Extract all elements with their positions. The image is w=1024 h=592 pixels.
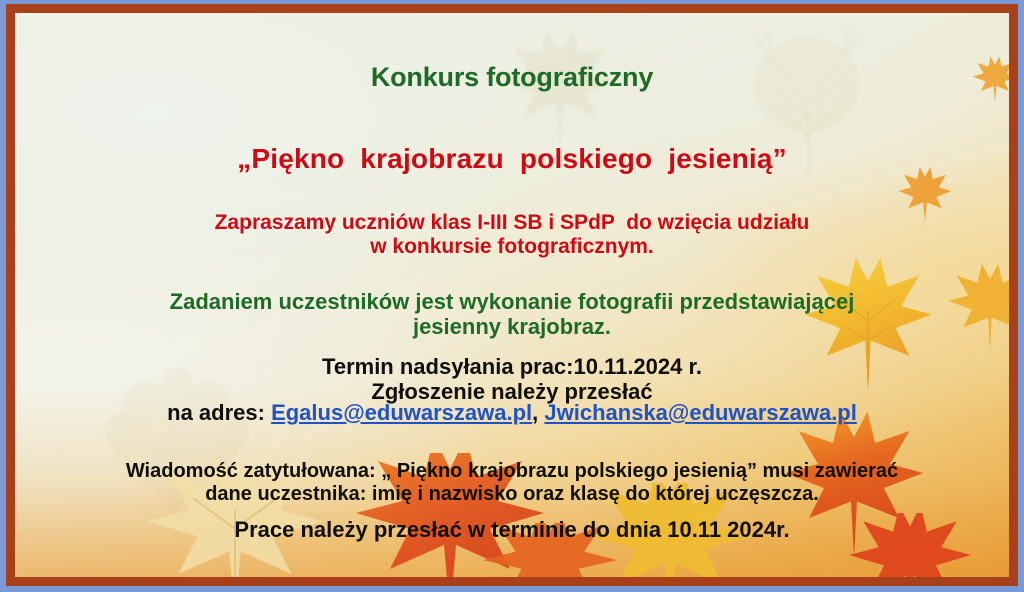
poster-content: Konkurs fotograficzny „Piękno krajobrazu…	[15, 13, 1009, 577]
final-note-text: Prace należy przesłać w terminie do dnia…	[15, 518, 1009, 543]
task-line-2: jesienny krajobraz.	[15, 315, 1009, 340]
email-link-2[interactable]: Jwichanska@eduwarszawa.pl	[544, 400, 856, 425]
theme-text: „Piękno krajobrazu polskiego jesienią”	[15, 143, 1009, 175]
final-note-block: Prace należy przesłać w terminie do dnia…	[15, 518, 1009, 543]
subject-info-block: Wiadomość zatytułowana: „ Piękno krajobr…	[15, 460, 1009, 505]
title-text: Konkurs fotograficzny	[15, 62, 1009, 93]
invitation-line-1: Zapraszamy uczniów klas I-III SB i SPdP …	[15, 211, 1009, 235]
subject-info-line-1: Wiadomość zatytułowana: „ Piękno krajobr…	[15, 460, 1009, 483]
email-link-1[interactable]: Egalus@eduwarszawa.pl	[271, 400, 532, 425]
page-title: Konkurs fotograficzny	[15, 62, 1009, 93]
subject-info-line-2: dane uczestnika: imię i nazwisko oraz kl…	[15, 483, 1009, 506]
task-block: Zadaniem uczestników jest wykonanie foto…	[15, 290, 1009, 340]
email-separator: ,	[532, 400, 544, 425]
email-prefix-label: na adres:	[167, 400, 271, 425]
invitation-block: Zapraszamy uczniów klas I-III SB i SPdP …	[15, 211, 1009, 258]
email-row: na adres: Egalus@eduwarszawa.pl, Jwichan…	[15, 401, 1009, 426]
task-line-1: Zadaniem uczestników jest wykonanie foto…	[15, 290, 1009, 315]
poster-root: Konkurs fotograficzny „Piękno krajobrazu…	[0, 0, 1024, 592]
contest-theme: „Piękno krajobrazu polskiego jesienią”	[15, 143, 1009, 175]
email-block: na adres: Egalus@eduwarszawa.pl, Jwichan…	[15, 401, 1009, 426]
deadline-block: Termin nadsyłania prac:10.11.2024 r. Zgł…	[15, 355, 1009, 405]
invitation-line-2: w konkursie fotograficznym.	[15, 235, 1009, 259]
poster-frame: Konkurs fotograficzny „Piękno krajobrazu…	[6, 4, 1018, 586]
deadline-line-1: Termin nadsyłania prac:10.11.2024 r.	[15, 355, 1009, 380]
